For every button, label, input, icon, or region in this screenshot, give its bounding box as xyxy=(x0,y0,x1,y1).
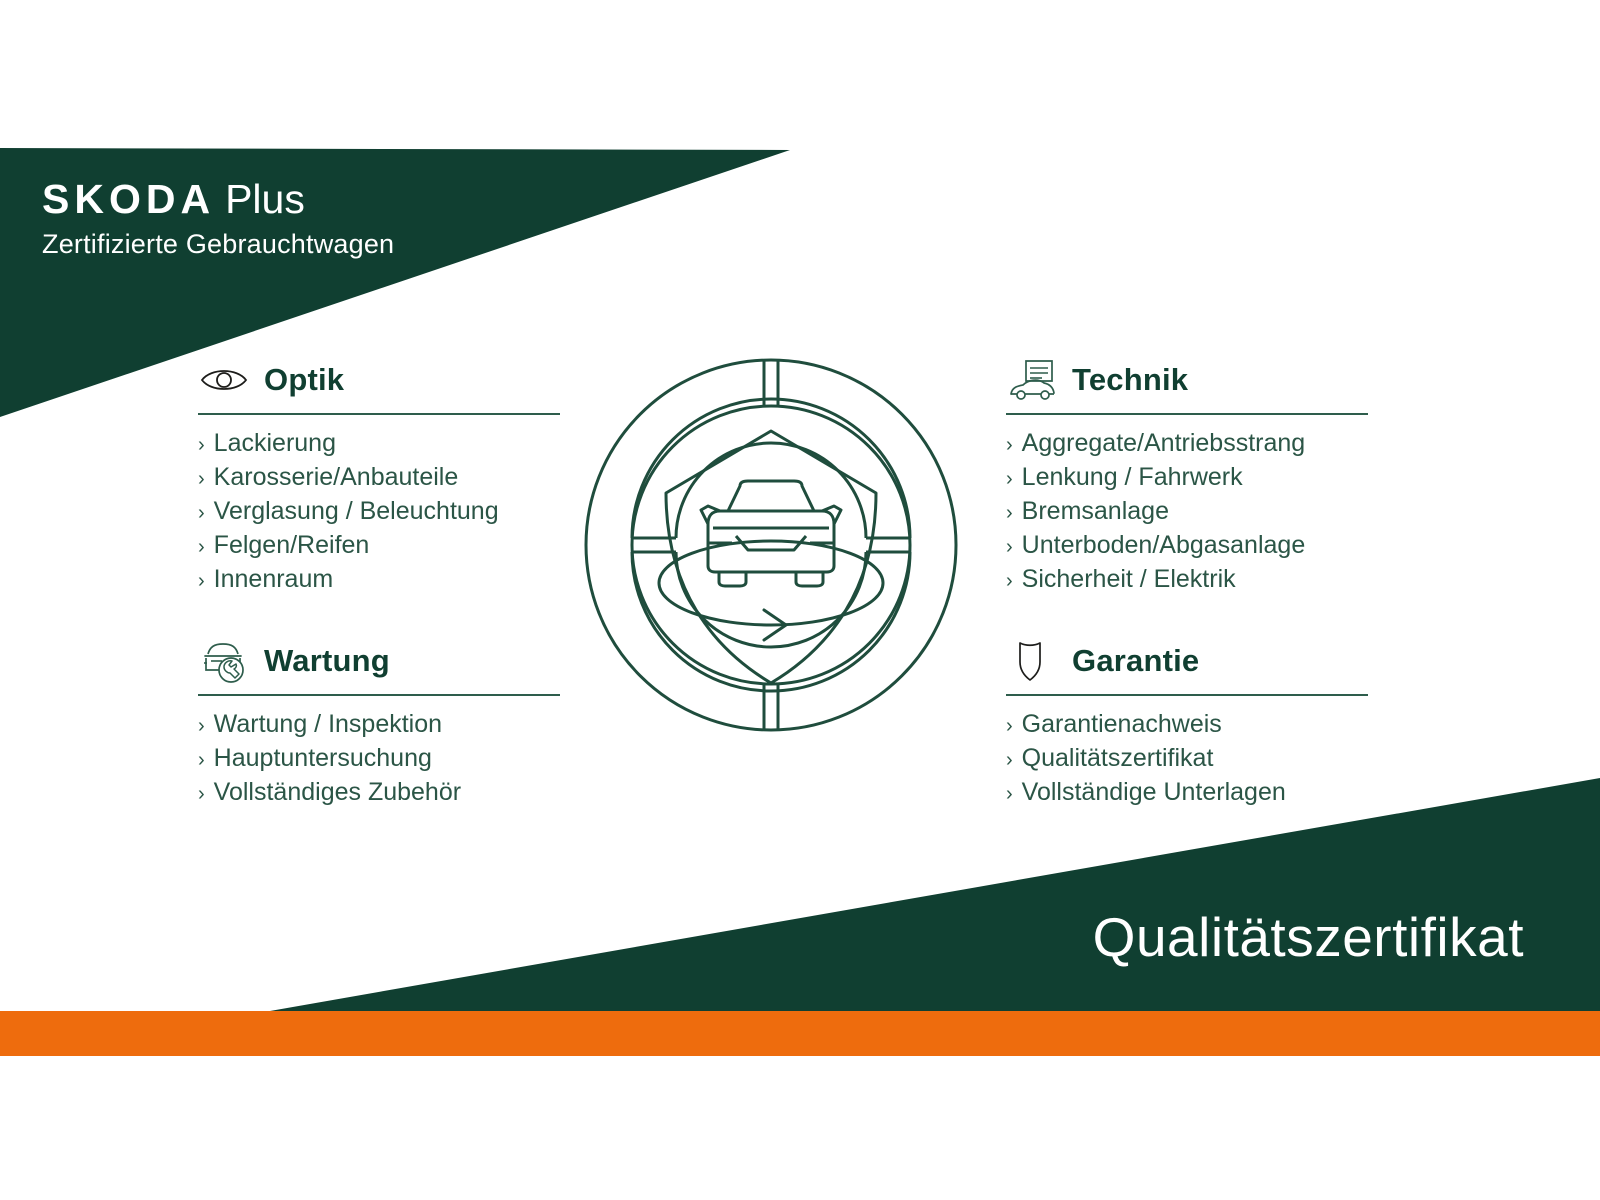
list-item-label: Aggregate/Antriebsstrang xyxy=(1022,427,1306,459)
chevron-right-icon: › xyxy=(1006,710,1013,742)
certified-vehicle-shield-emblem xyxy=(568,338,974,752)
inner-ring-seg-a xyxy=(632,399,771,538)
chevron-right-icon: › xyxy=(198,744,205,776)
outer-ring-inner-right-arc xyxy=(771,406,910,684)
list-item-label: Bremsanlage xyxy=(1022,495,1169,527)
section-header: Technik xyxy=(1006,355,1371,405)
list-item-label: Verglasung / Beleuchtung xyxy=(214,495,499,527)
section-garantie: Garantie ›Garantienachweis ›Qualitätszer… xyxy=(1006,636,1371,810)
car-wheel-right xyxy=(796,572,823,586)
chevron-right-icon: › xyxy=(198,429,205,461)
chevron-right-icon: › xyxy=(1006,463,1013,495)
brand-wordmark: SKODA xyxy=(42,176,215,222)
list-item: ›Innenraum xyxy=(198,563,563,597)
list-item: ›Unterboden/Abgasanlage xyxy=(1006,529,1371,563)
section-header: Optik xyxy=(198,355,563,405)
chevron-right-icon: › xyxy=(1006,565,1013,597)
chevron-right-icon: › xyxy=(198,565,205,597)
chevron-right-icon: › xyxy=(1006,778,1013,810)
chevron-right-icon: › xyxy=(198,497,205,529)
car-wrench-icon xyxy=(198,638,250,684)
eye-icon xyxy=(198,357,250,403)
section-header: Wartung xyxy=(198,636,563,686)
section-wartung: Wartung ›Wartung / Inspektion ›Hauptunte… xyxy=(198,636,563,810)
list-item-label: Qualitätszertifikat xyxy=(1022,742,1214,774)
shield-outline xyxy=(666,431,876,683)
outer-ring-inner-left-arc xyxy=(632,406,771,684)
list-item: ›Lackierung xyxy=(198,427,563,461)
list-item: ›Lenkung / Fahrwerk xyxy=(1006,461,1371,495)
chevron-right-icon: › xyxy=(198,778,205,810)
orbit-ellipse xyxy=(659,541,883,625)
section-title: Technik xyxy=(1072,362,1188,398)
brand-plus-label: Plus xyxy=(225,176,305,222)
list-item-label: Vollständiges Zubehör xyxy=(214,776,461,808)
chevron-right-icon: › xyxy=(1006,744,1013,776)
list-item-label: Lackierung xyxy=(214,427,336,459)
car-document-icon xyxy=(1006,357,1058,403)
list-item: ›Garantienachweis xyxy=(1006,708,1371,742)
section-title: Optik xyxy=(264,362,344,398)
list-item-label: Vollständige Unterlagen xyxy=(1022,776,1286,808)
list-item: ›Qualitätszertifikat xyxy=(1006,742,1371,776)
section-title: Wartung xyxy=(264,643,390,679)
section-technik: Technik ›Aggregate/Antriebsstrang ›Lenku… xyxy=(1006,355,1371,597)
list-item-label: Hauptuntersuchung xyxy=(214,742,432,774)
chevron-right-icon: › xyxy=(198,463,205,495)
chevron-right-icon: › xyxy=(198,531,205,563)
chevron-right-icon: › xyxy=(1006,531,1013,563)
chevron-right-icon: › xyxy=(1006,497,1013,529)
section-divider xyxy=(1006,413,1368,415)
list-item-label: Karosserie/Anbauteile xyxy=(214,461,459,493)
list-item-label: Sicherheit / Elektrik xyxy=(1022,563,1236,595)
section-item-list: ›Wartung / Inspektion ›Hauptuntersuchung… xyxy=(198,708,563,810)
shield-icon xyxy=(1006,638,1058,684)
certificate-page: SKODAPlus Zertifizierte Gebrauchtwagen O… xyxy=(0,0,1600,1200)
footer-title: Qualitätszertifikat xyxy=(1093,905,1524,969)
bottom-green-wedge xyxy=(270,778,1600,1011)
section-title: Garantie xyxy=(1072,643,1199,679)
list-item-label: Felgen/Reifen xyxy=(214,529,370,561)
list-item: ›Hauptuntersuchung xyxy=(198,742,563,776)
section-header: Garantie xyxy=(1006,636,1371,686)
list-item: ›Vollständige Unterlagen xyxy=(1006,776,1371,810)
chevron-right-icon: › xyxy=(198,710,205,742)
list-item: ›Sicherheit / Elektrik xyxy=(1006,563,1371,597)
list-item: ›Bremsanlage xyxy=(1006,495,1371,529)
inner-ring-inner-lower-arc xyxy=(676,552,866,647)
list-item-label: Lenkung / Fahrwerk xyxy=(1022,461,1243,493)
section-divider xyxy=(198,413,560,415)
list-item-label: Innenraum xyxy=(214,563,334,595)
section-item-list: ›Aggregate/Antriebsstrang ›Lenkung / Fah… xyxy=(1006,427,1371,597)
list-item-label: Garantienachweis xyxy=(1022,708,1222,740)
list-item: ›Aggregate/Antriebsstrang xyxy=(1006,427,1371,461)
car-wheel-left xyxy=(719,572,746,586)
brand-tagline: Zertifizierte Gebrauchtwagen xyxy=(42,227,394,261)
list-item: ›Vollständiges Zubehör xyxy=(198,776,563,810)
brand-logo-primary: SKODAPlus xyxy=(42,175,394,223)
section-item-list: ›Garantienachweis ›Qualitätszertifikat ›… xyxy=(1006,708,1371,810)
list-item: ›Verglasung / Beleuchtung xyxy=(198,495,563,529)
orange-accent-bar xyxy=(0,1011,1600,1056)
list-item-label: Unterboden/Abgasanlage xyxy=(1022,529,1306,561)
list-item-label: Wartung / Inspektion xyxy=(214,708,442,740)
section-optik: Optik ›Lackierung ›Karosserie/Anbauteile… xyxy=(198,355,563,597)
inner-ring-inner-upper-arc xyxy=(676,443,866,538)
chevron-right-icon: › xyxy=(1006,429,1013,461)
list-item: ›Karosserie/Anbauteile xyxy=(198,461,563,495)
inner-ring-upper-arc xyxy=(632,399,910,538)
brand-logo: SKODAPlus Zertifizierte Gebrauchtwagen xyxy=(42,175,394,261)
section-divider xyxy=(1006,694,1368,696)
section-item-list: ›Lackierung ›Karosserie/Anbauteile ›Verg… xyxy=(198,427,563,597)
section-divider xyxy=(198,694,560,696)
list-item: ›Wartung / Inspektion xyxy=(198,708,563,742)
list-item: ›Felgen/Reifen xyxy=(198,529,563,563)
car-roof xyxy=(728,481,814,511)
